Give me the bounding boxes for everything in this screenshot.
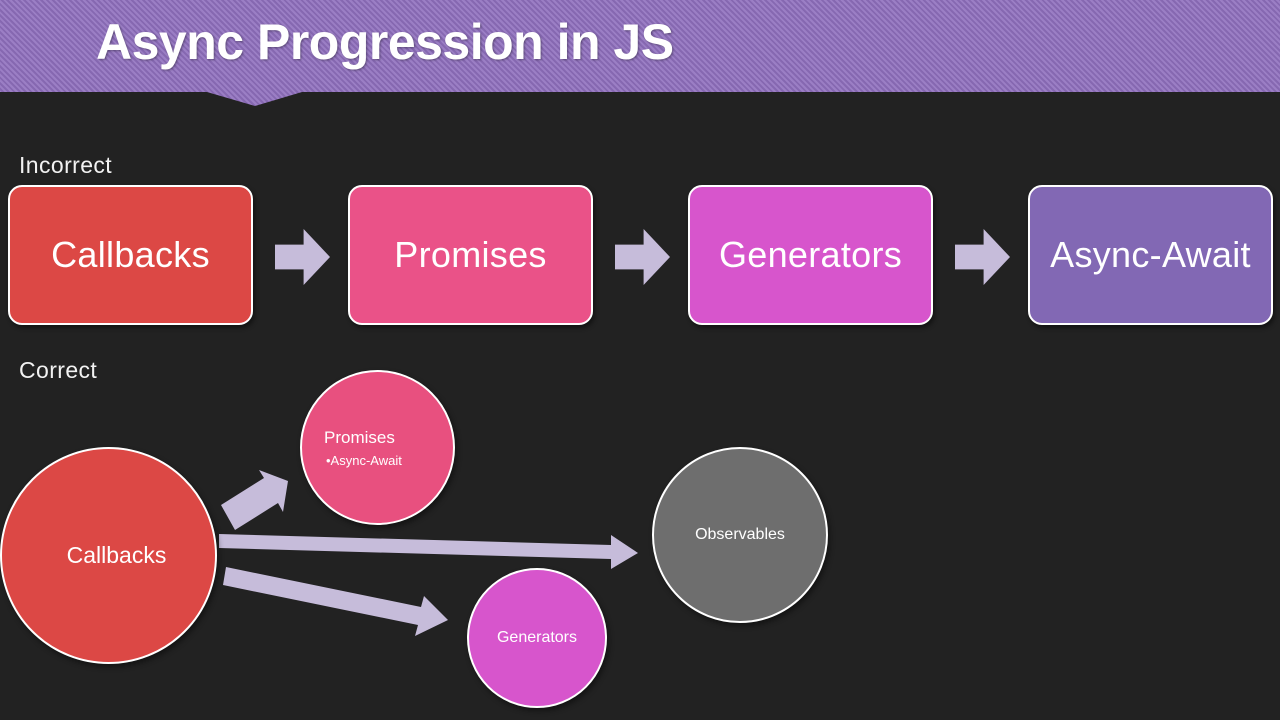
bubble-generators[interactable]: Generators	[467, 568, 607, 708]
flow-arrow-icon-3	[955, 229, 1010, 285]
bubble-label: Callbacks	[51, 542, 167, 569]
bubble-sub-label: •Async-Await	[302, 453, 402, 468]
flow-box-label: Promises	[394, 234, 546, 276]
bubble-callbacks[interactable]: Callbacks	[0, 447, 217, 664]
arrow-callbacks-to-observables	[219, 534, 638, 569]
flow-arrow-icon-1	[275, 229, 330, 285]
flow-box-async-await[interactable]: Async-Await	[1028, 185, 1273, 325]
section-label-incorrect: Incorrect	[19, 152, 112, 179]
bubble-observables[interactable]: Observables	[652, 447, 828, 623]
flow-box-generators[interactable]: Generators	[688, 185, 933, 325]
page-title: Async Progression in JS	[96, 13, 674, 71]
flow-box-label: Generators	[719, 234, 902, 276]
flow-box-label: Callbacks	[51, 234, 210, 276]
arrow-callbacks-to-generators	[223, 567, 448, 636]
section-label-correct: Correct	[19, 357, 97, 384]
bubble-label: Promises	[302, 428, 395, 448]
arrow-callbacks-to-promises	[221, 470, 288, 530]
flow-box-callbacks[interactable]: Callbacks	[8, 185, 253, 325]
bubble-promises[interactable]: Promises •Async-Await	[300, 370, 455, 525]
bubble-label: Generators	[497, 629, 577, 647]
bubble-label: Observables	[695, 526, 785, 544]
flow-box-promises[interactable]: Promises	[348, 185, 593, 325]
flow-arrow-icon-2	[615, 229, 670, 285]
flow-box-label: Async-Await	[1050, 234, 1251, 276]
slide-canvas: Async Progression in JS Incorrect Callba…	[0, 0, 1280, 720]
